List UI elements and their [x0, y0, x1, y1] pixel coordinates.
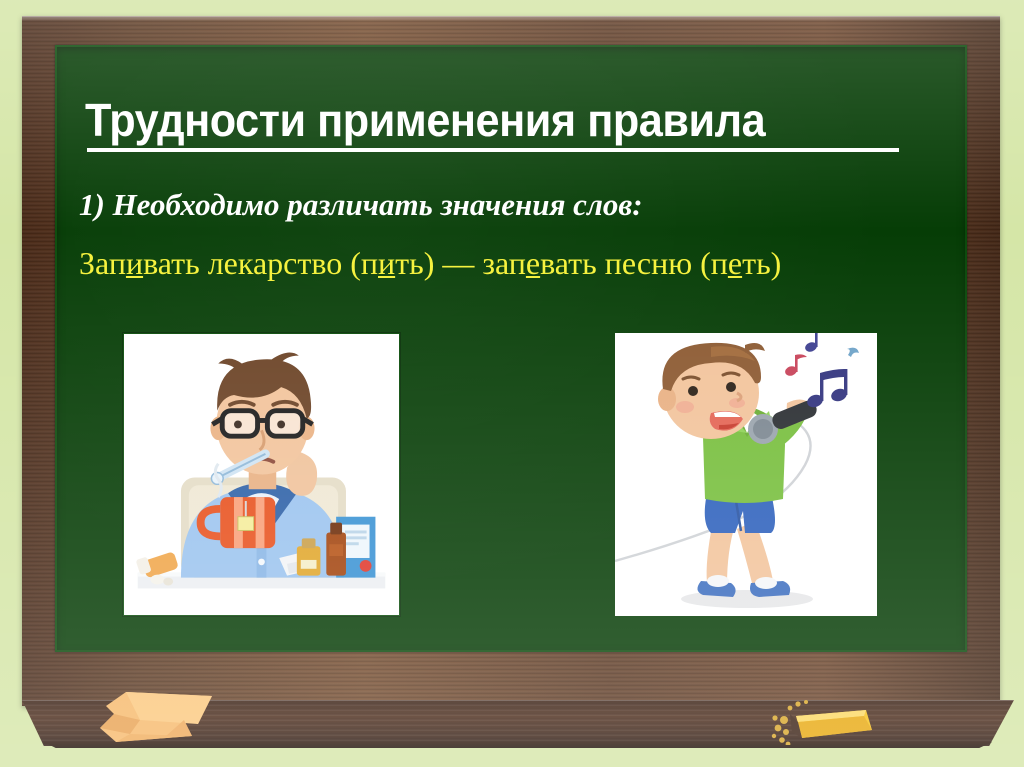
slide-canvas: Трудности применения правила 1) Необходи…	[0, 0, 1024, 767]
page-title: Трудности применения правила	[85, 95, 893, 145]
singing-boy-drawing	[615, 333, 877, 616]
sick-man-drawing	[124, 334, 399, 615]
illustration-singing-boy	[615, 333, 877, 616]
example-prefix-a: Зап	[79, 245, 126, 281]
frame-top-highlight	[22, 16, 1000, 21]
example-mid-b: вать песню (п	[540, 245, 728, 281]
title-underline	[87, 148, 899, 152]
example-dash: —	[434, 245, 482, 281]
stressed-vowel-i-2: и	[378, 245, 395, 281]
example-mid-a: вать лекарство (п	[143, 245, 378, 281]
example-suffix-a: ть)	[395, 245, 434, 281]
stressed-vowel-e-2: е	[728, 245, 742, 281]
duster-cloth-icon[interactable]	[80, 690, 225, 748]
example-prefix-b: зап	[482, 245, 526, 281]
board-content: Трудности применения правила 1) Необходи…	[55, 45, 967, 652]
stressed-vowel-e-1: е	[526, 245, 540, 281]
bullet-line-1: 1) Необходимо различать значения слов:	[79, 187, 949, 223]
stressed-vowel-i-1: и	[126, 245, 143, 281]
example-line: Запивать лекарство (пить) — запевать пес…	[79, 244, 959, 282]
example-suffix-b: ть)	[742, 245, 781, 281]
chalk-stick-icon[interactable]	[770, 700, 880, 745]
illustration-sick-man	[123, 333, 400, 616]
